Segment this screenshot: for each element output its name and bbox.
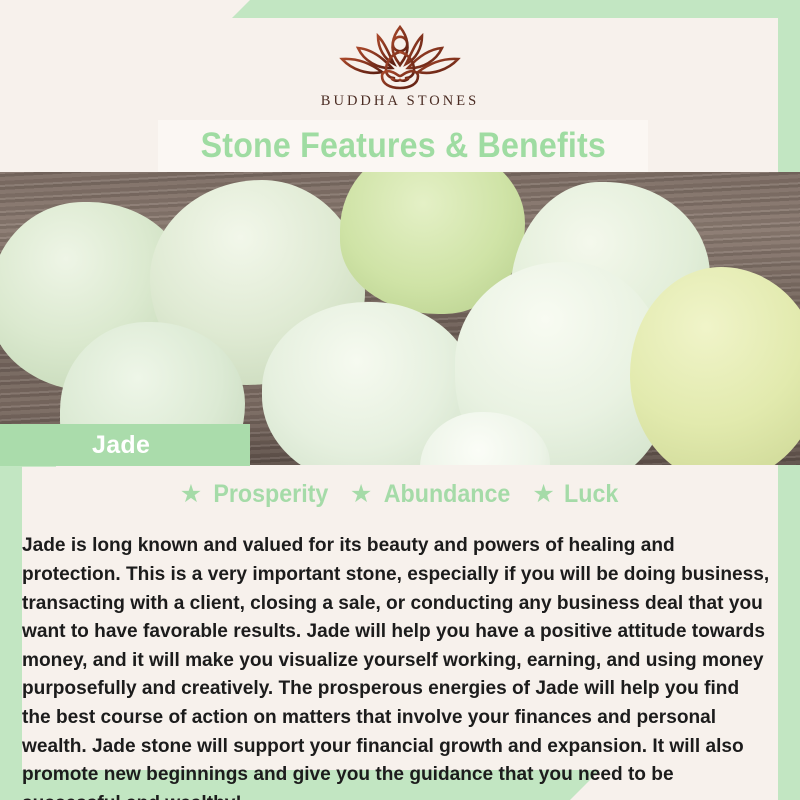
lotus-meditation-icon xyxy=(334,18,466,90)
benefit-label: Prosperity xyxy=(214,480,329,509)
infographic-card: BUDDHA STONES Stone Features & Benefits … xyxy=(0,0,800,800)
page-title: Stone Features & Benefits xyxy=(200,126,605,166)
stone-name: Jade xyxy=(92,431,150,460)
benefit-item-abundance: ★ Abundance xyxy=(350,480,516,509)
stone-photo xyxy=(0,172,800,465)
benefit-item-luck: ★ Luck xyxy=(532,480,620,509)
benefit-label: Luck xyxy=(564,480,618,509)
star-icon: ★ xyxy=(532,482,554,507)
benefit-item-prosperity: ★ Prosperity xyxy=(180,480,333,509)
star-icon: ★ xyxy=(180,482,202,507)
title-banner: Stone Features & Benefits xyxy=(158,120,648,172)
header: BUDDHA STONES xyxy=(0,0,800,125)
star-icon: ★ xyxy=(350,482,372,507)
benefit-label: Abundance xyxy=(384,480,511,509)
brand-logo: BUDDHA STONES xyxy=(0,18,800,110)
benefits-row: ★ Prosperity ★ Abundance ★ Luck xyxy=(0,478,800,510)
stone-name-badge: Jade xyxy=(0,424,250,466)
brand-name: BUDDHA STONES xyxy=(0,93,800,110)
description-paragraph: Jade is long known and valued for its be… xyxy=(22,531,773,800)
